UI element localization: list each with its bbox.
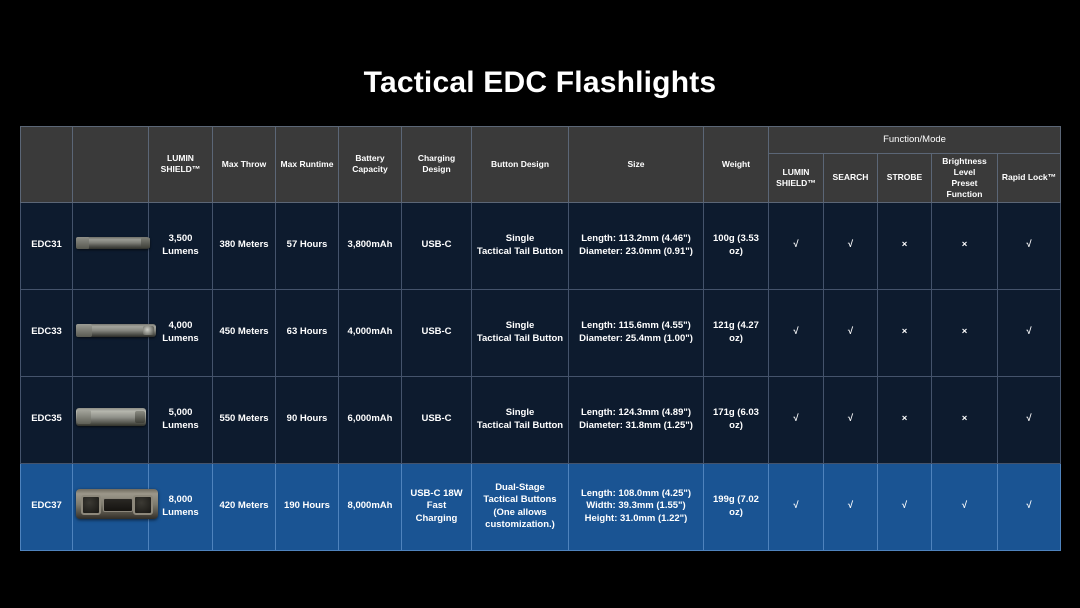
header-lumin-shield-line2: SHIELD™ (161, 164, 201, 174)
table-row[interactable]: EDC31 3,500 Lumens 380 Meters 57 Hours 3… (21, 202, 1061, 289)
cell-fn-lumin-shield: √ (769, 463, 824, 550)
charging-line: USB-C 18W (405, 488, 468, 500)
cell-lumin-shield: 5,000 Lumens (149, 376, 213, 463)
header-fn-strobe: STROBE (878, 154, 932, 203)
size-line: Height: 31.0mm (1.22") (572, 513, 700, 525)
cell-max-runtime: 190 Hours (276, 463, 339, 550)
cell-max-runtime: 57 Hours (276, 202, 339, 289)
header-lumin-shield: LUMIN SHIELD™ (149, 127, 213, 203)
header-battery-line2: Capacity (352, 164, 387, 174)
cell-weight: 171g (6.03 oz) (704, 376, 769, 463)
charging-line: Fast Charging (405, 500, 468, 524)
cell-weight: 199g (7.02 oz) (704, 463, 769, 550)
cell-button-design: Single Tactical Tail Button (472, 289, 569, 376)
size-line: Diameter: 23.0mm (0.91") (572, 246, 700, 258)
header-fn-brightness-line2: Preset Function (947, 178, 983, 199)
lumens-value: 3,500 (152, 233, 209, 245)
button-design-line: Single (475, 407, 565, 419)
size-line: Length: 124.3mm (4.89") (572, 407, 700, 419)
cell-charging-design: USB-C 18W Fast Charging (402, 463, 472, 550)
header-fn-lumin-line2: SHIELD™ (776, 178, 816, 188)
header-row-group: LUMIN SHIELD™ Max Throw Max Runtime Batt… (21, 127, 1061, 154)
cell-max-runtime: 90 Hours (276, 376, 339, 463)
button-design-line: Tactical Tail Button (475, 420, 565, 432)
cell-max-throw: 420 Meters (213, 463, 276, 550)
header-charging-design: Charging Design (402, 127, 472, 203)
size-line: Length: 115.6mm (4.55") (572, 320, 700, 332)
flashlight-icon (76, 324, 156, 337)
button-design-line: Dual-Stage (475, 482, 565, 494)
cell-fn-strobe: × (878, 376, 932, 463)
header-fn-lumin-shield: LUMIN SHIELD™ (769, 154, 824, 203)
header-max-throw: Max Throw (213, 127, 276, 203)
cell-battery-capacity: 8,000mAh (339, 463, 402, 550)
header-lumin-shield-line1: LUMIN (167, 153, 194, 163)
cell-lumin-shield: 8,000 Lumens (149, 463, 213, 550)
button-design-line: Single (475, 320, 565, 332)
cell-lumin-shield: 3,500 Lumens (149, 202, 213, 289)
header-battery-line1: Battery (355, 153, 384, 163)
cell-fn-search: √ (824, 376, 878, 463)
cell-fn-rapid-lock: √ (998, 289, 1061, 376)
flashlight-icon (76, 489, 158, 519)
comparison-page: Tactical EDC Flashlights (0, 0, 1080, 608)
table-head: LUMIN SHIELD™ Max Throw Max Runtime Batt… (21, 127, 1061, 203)
cell-weight: 121g (4.27 oz) (704, 289, 769, 376)
button-design-line: customization.) (475, 519, 565, 531)
cell-fn-search: √ (824, 289, 878, 376)
header-fn-brightness-line1: Brightness Level (942, 156, 986, 177)
cell-lumin-shield: 4,000 Lumens (149, 289, 213, 376)
cell-battery-capacity: 3,800mAh (339, 202, 402, 289)
cell-fn-search: √ (824, 202, 878, 289)
cell-fn-brightness: × (932, 289, 998, 376)
flashlight-icon (76, 408, 146, 426)
cell-size: Length: 115.6mm (4.55") Diameter: 25.4mm… (569, 289, 704, 376)
cell-fn-rapid-lock: √ (998, 376, 1061, 463)
header-function-mode-group: Function/Mode (769, 127, 1061, 154)
cell-model: EDC35 (21, 376, 73, 463)
spec-table-container: LUMIN SHIELD™ Max Throw Max Runtime Batt… (20, 126, 1060, 551)
cell-fn-strobe: × (878, 202, 932, 289)
charging-line: USB-C (405, 413, 468, 425)
charging-line: USB-C (405, 326, 468, 338)
cell-fn-strobe: √ (878, 463, 932, 550)
cell-button-design: Single Tactical Tail Button (472, 202, 569, 289)
cell-fn-lumin-shield: √ (769, 289, 824, 376)
table-row[interactable]: EDC33 4,000 Lumens 450 Meters 63 Hours 4… (21, 289, 1061, 376)
cell-max-throw: 380 Meters (213, 202, 276, 289)
header-fn-search: SEARCH (824, 154, 878, 203)
header-fn-rapid-lock: Rapid Lock™ (998, 154, 1061, 203)
cell-model: EDC33 (21, 289, 73, 376)
cell-battery-capacity: 6,000mAh (339, 376, 402, 463)
cell-button-design: Dual-Stage Tactical Buttons (One allows … (472, 463, 569, 550)
charging-line: USB-C (405, 239, 468, 251)
lumens-value: 8,000 (152, 494, 209, 506)
cell-product-image (73, 289, 149, 376)
cell-product-image (73, 463, 149, 550)
cell-model: EDC37 (21, 463, 73, 550)
header-weight: Weight (704, 127, 769, 203)
header-image (73, 127, 149, 203)
cell-max-throw: 550 Meters (213, 376, 276, 463)
cell-battery-capacity: 4,000mAh (339, 289, 402, 376)
button-design-line: Tactical Tail Button (475, 333, 565, 345)
header-model (21, 127, 73, 203)
button-design-line: Single (475, 233, 565, 245)
flashlight-body-detail (103, 498, 133, 512)
cell-fn-lumin-shield: √ (769, 202, 824, 289)
header-fn-brightness: Brightness Level Preset Function (932, 154, 998, 203)
size-line: Diameter: 25.4mm (1.00") (572, 333, 700, 345)
header-size: Size (569, 127, 704, 203)
table-row[interactable]: EDC35 5,000 Lumens 550 Meters 90 Hours 6… (21, 376, 1061, 463)
cell-charging-design: USB-C (402, 289, 472, 376)
size-line: Length: 108.0mm (4.25") (572, 488, 700, 500)
cell-product-image (73, 376, 149, 463)
button-design-line: (One allows (475, 507, 565, 519)
cell-fn-brightness: √ (932, 463, 998, 550)
size-line: Length: 113.2mm (4.46") (572, 233, 700, 245)
cell-size: Length: 108.0mm (4.25") Width: 39.3mm (1… (569, 463, 704, 550)
cell-fn-brightness: × (932, 376, 998, 463)
size-line: Width: 39.3mm (1.55") (572, 500, 700, 512)
lumens-unit: Lumens (152, 507, 209, 519)
size-line: Diameter: 31.8mm (1.25") (572, 420, 700, 432)
cell-fn-rapid-lock: √ (998, 463, 1061, 550)
header-button-design: Button Design (472, 127, 569, 203)
cell-weight: 100g (3.53 oz) (704, 202, 769, 289)
header-max-runtime: Max Runtime (276, 127, 339, 203)
cell-charging-design: USB-C (402, 202, 472, 289)
cell-model: EDC31 (21, 202, 73, 289)
lumens-unit: Lumens (152, 420, 209, 432)
spec-table: LUMIN SHIELD™ Max Throw Max Runtime Batt… (20, 126, 1061, 551)
flashlight-icon (76, 237, 150, 249)
cell-size: Length: 113.2mm (4.46") Diameter: 23.0mm… (569, 202, 704, 289)
table-row[interactable]: EDC37 8,000 Lumens 420 Meters 190 Hours … (21, 463, 1061, 550)
cell-fn-rapid-lock: √ (998, 202, 1061, 289)
header-fn-lumin-line1: LUMIN (783, 167, 810, 177)
cell-max-runtime: 63 Hours (276, 289, 339, 376)
button-design-line: Tactical Tail Button (475, 246, 565, 258)
lumens-unit: Lumens (152, 246, 209, 258)
button-design-line: Tactical Buttons (475, 494, 565, 506)
cell-fn-brightness: × (932, 202, 998, 289)
table-body: EDC31 3,500 Lumens 380 Meters 57 Hours 3… (21, 202, 1061, 550)
cell-max-throw: 450 Meters (213, 289, 276, 376)
cell-product-image (73, 202, 149, 289)
cell-fn-search: √ (824, 463, 878, 550)
cell-button-design: Single Tactical Tail Button (472, 376, 569, 463)
lumens-unit: Lumens (152, 333, 209, 345)
lumens-value: 5,000 (152, 407, 209, 419)
cell-fn-strobe: × (878, 289, 932, 376)
lumens-value: 4,000 (152, 320, 209, 332)
cell-charging-design: USB-C (402, 376, 472, 463)
page-title: Tactical EDC Flashlights (0, 66, 1080, 100)
cell-size: Length: 124.3mm (4.89") Diameter: 31.8mm… (569, 376, 704, 463)
cell-fn-lumin-shield: √ (769, 376, 824, 463)
header-battery-capacity: Battery Capacity (339, 127, 402, 203)
